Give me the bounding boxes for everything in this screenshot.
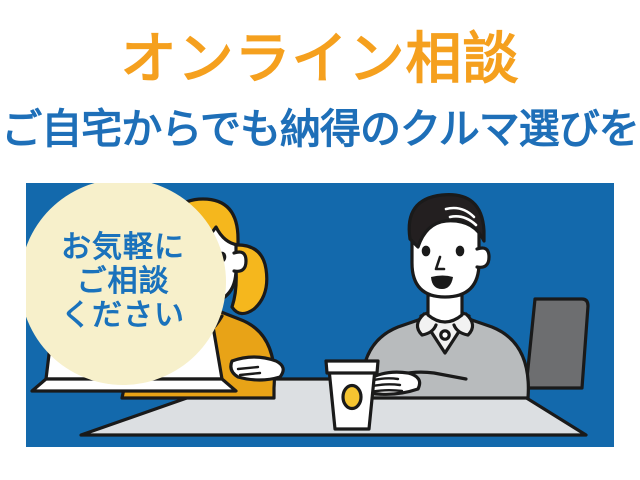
online-consultation-banner: オンライン相談 ご自宅からでも納得のクルマ選びを <box>0 0 640 480</box>
badge-line-3: ください <box>61 299 185 333</box>
page-subtitle: ご自宅からでも納得のクルマ選びを <box>0 105 640 153</box>
badge-line-1: お気軽に <box>61 231 185 265</box>
coffee-cup-logo-icon <box>343 386 361 409</box>
chair-back <box>526 299 588 388</box>
badge-line-2: ご相談 <box>77 265 170 299</box>
man-ear <box>477 248 489 267</box>
man-eye-right <box>456 246 465 257</box>
man-neck <box>428 295 462 322</box>
man-shirt-button <box>441 331 449 339</box>
illustration-panel: お気軽に ご相談 ください <box>26 183 614 447</box>
coffee-cup-lid <box>326 361 378 373</box>
man-eye-left <box>422 246 431 257</box>
woman-ear <box>234 252 246 271</box>
page-title: オンライン相談 <box>0 28 640 90</box>
